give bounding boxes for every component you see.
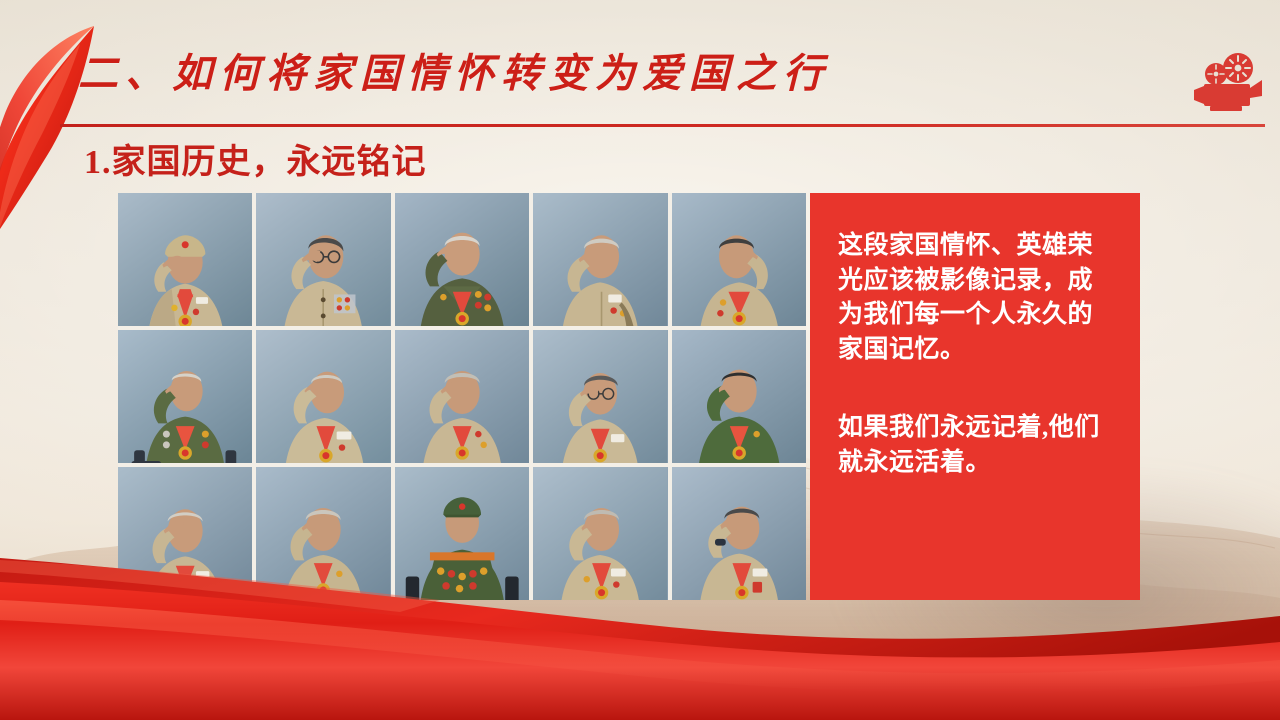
page-title: 二、如何将家国情怀转变为爱国之行: [78, 41, 830, 99]
veteran-portrait-11: [118, 467, 252, 600]
veteran-portrait-15: [672, 467, 806, 600]
veteran-portrait-13: [395, 467, 529, 600]
slide-canvas: 二、如何将家国情怀转变为爱国之行 1.家国历史，永远铭记: [0, 0, 1280, 720]
veteran-portrait-06: [118, 330, 252, 463]
veteran-portrait-05: [672, 193, 806, 326]
quote-paragraph-1: 这段家国情怀、英雄荣光应该被影像记录，成为我们每一个人永久的家国记忆。: [838, 229, 1116, 367]
veteran-portrait-14: [533, 467, 667, 600]
quote-paragraph-2: 如果我们永远记着,他们就永远活着。: [838, 411, 1116, 480]
movie-projector-icon: [1192, 52, 1264, 112]
header-divider: [60, 124, 1265, 127]
veteran-portrait-08: [395, 330, 529, 463]
veteran-portrait-grid: [118, 193, 806, 600]
veteran-portrait-01: [118, 193, 252, 326]
section-subtitle: 1.家国历史，永远铭记: [84, 134, 427, 183]
veteran-portrait-02: [256, 193, 390, 326]
veteran-portrait-09: [533, 330, 667, 463]
veteran-portrait-12: [256, 467, 390, 600]
quote-panel: 这段家国情怀、英雄荣光应该被影像记录，成为我们每一个人永久的家国记忆。 如果我们…: [810, 193, 1140, 600]
veteran-portrait-03: [395, 193, 529, 326]
veteran-portrait-07: [256, 330, 390, 463]
veteran-portrait-10: [672, 330, 806, 463]
veteran-portrait-04: [533, 193, 667, 326]
